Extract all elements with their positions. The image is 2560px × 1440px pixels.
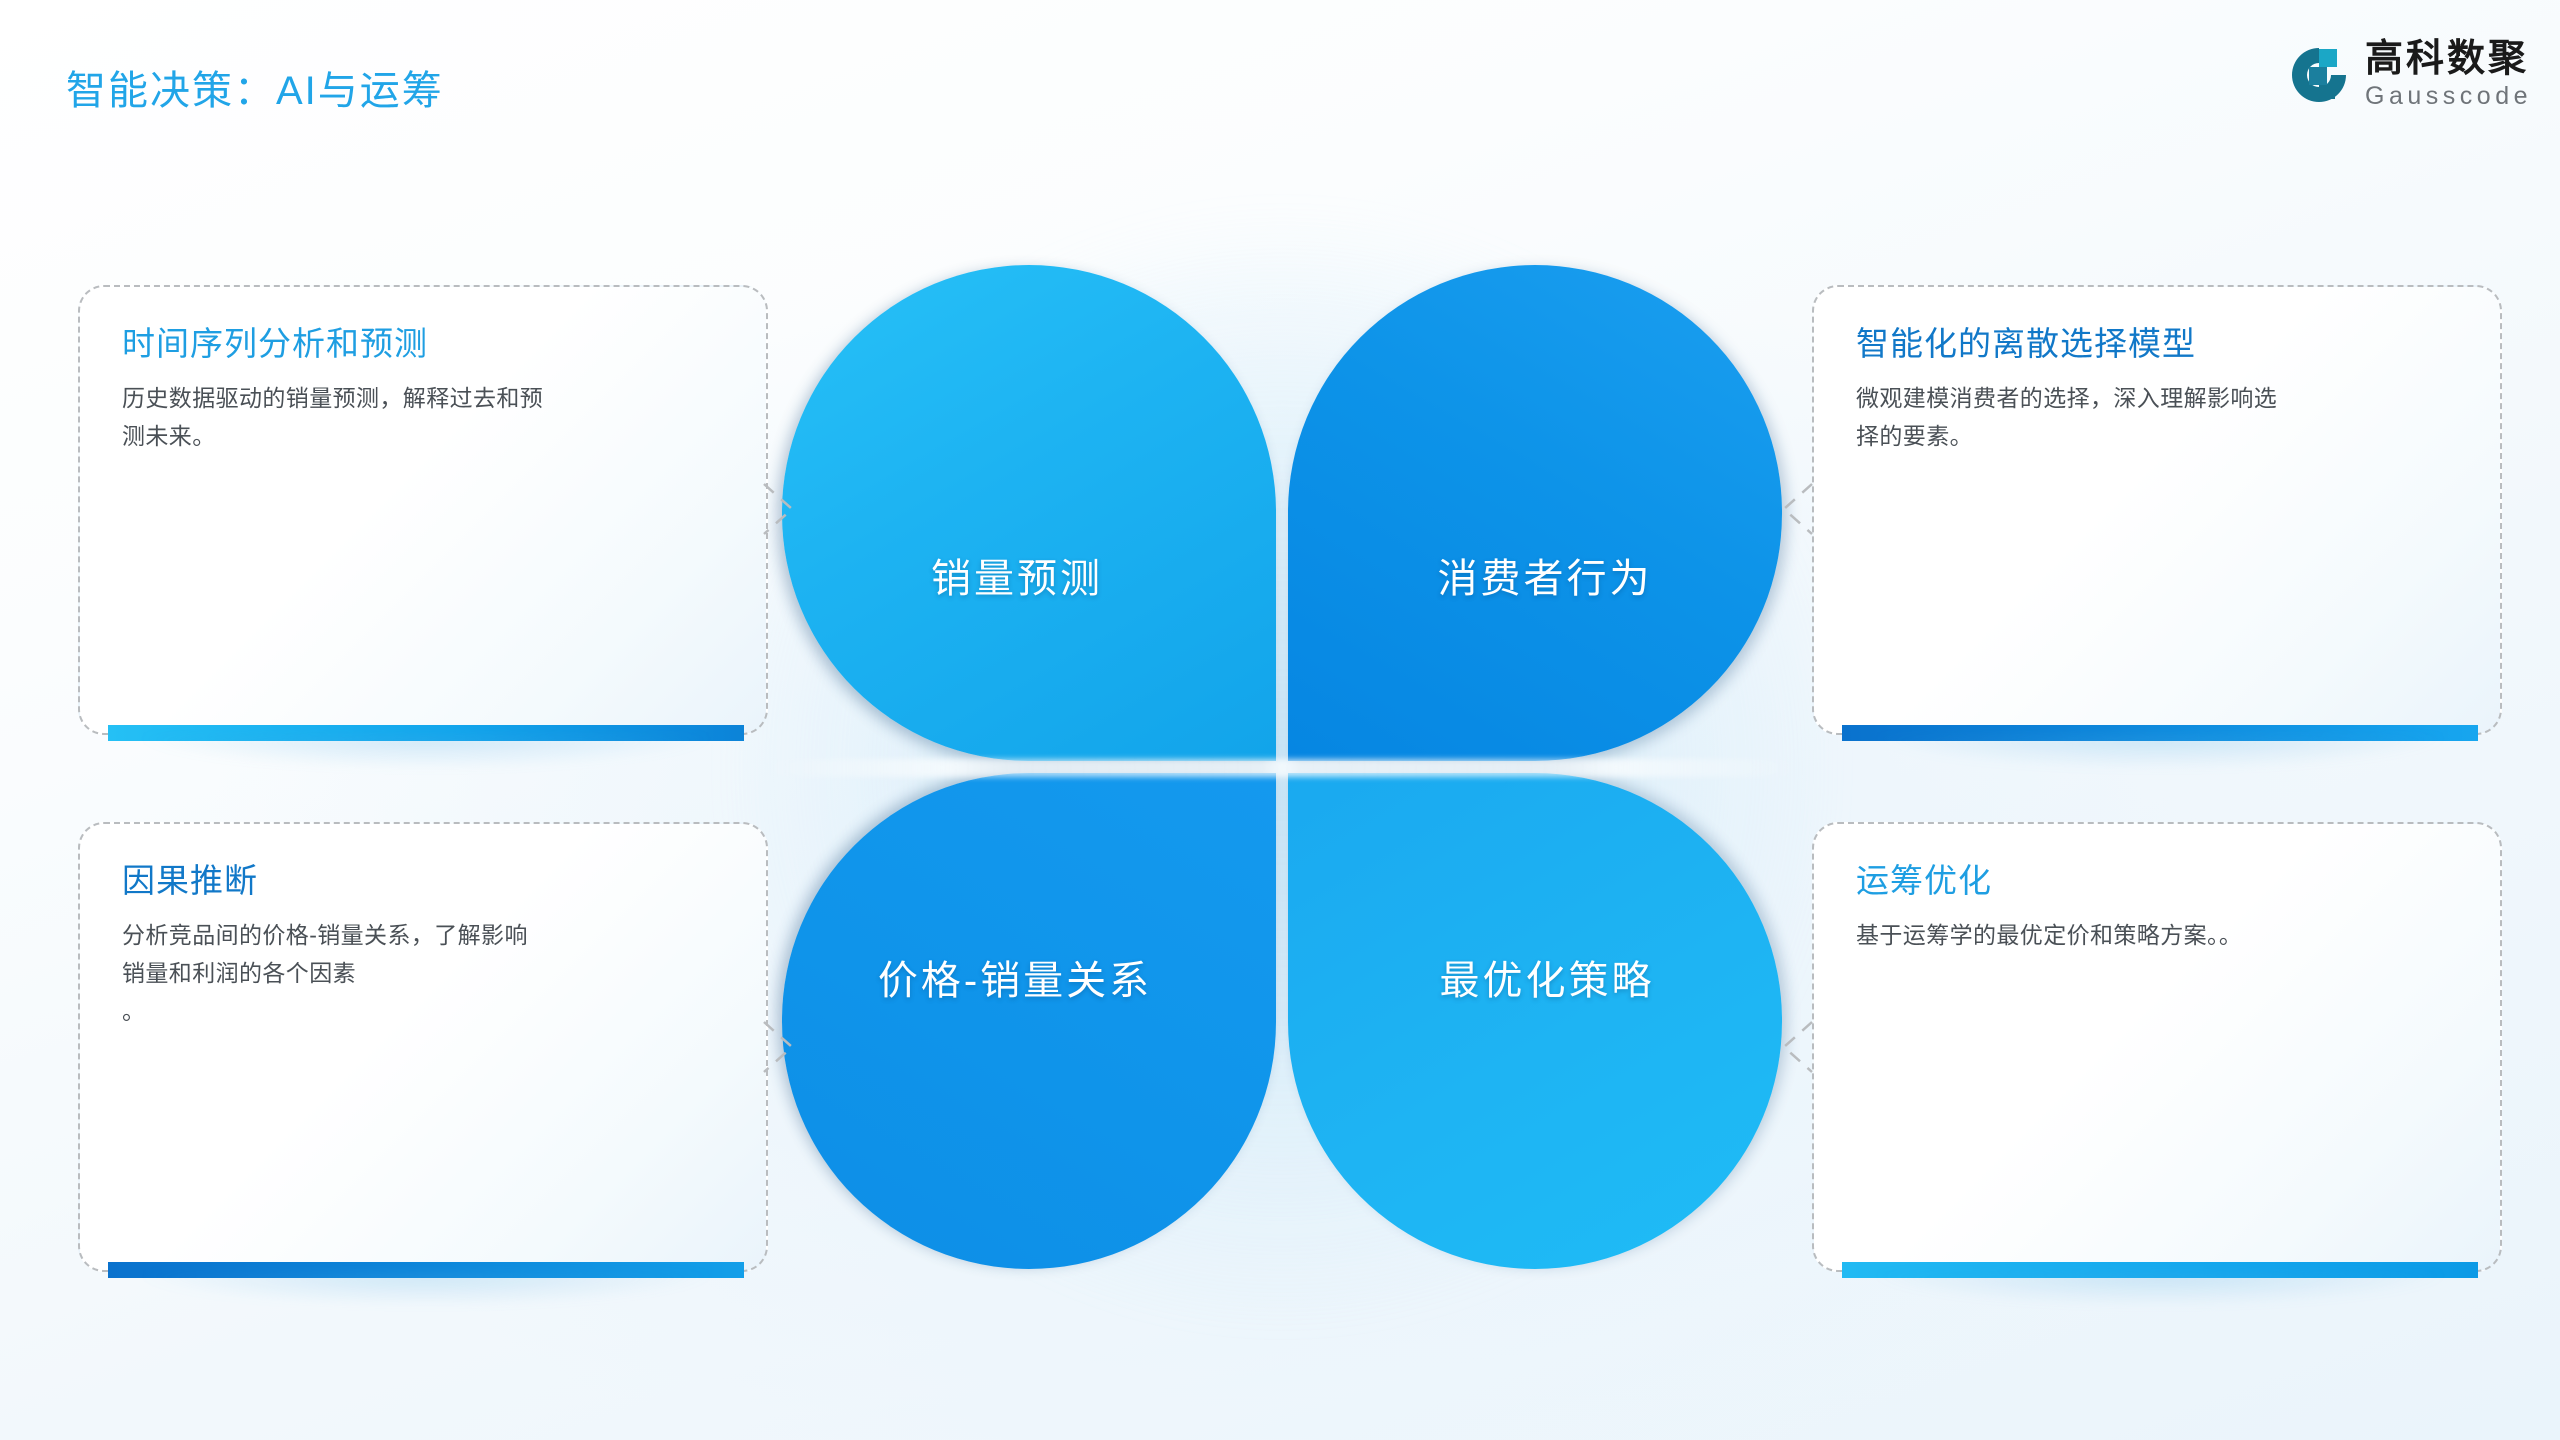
card-title: 运筹优化 bbox=[1856, 860, 2462, 901]
card-time-series[interactable]: 时间序列分析和预测 历史数据驱动的销量预测，解释过去和预 测未来。 bbox=[78, 285, 768, 735]
petal-label: 消费者行为 bbox=[1438, 546, 1653, 604]
card-accent-glow bbox=[1874, 735, 2446, 769]
petal-consumer-behavior[interactable]: 消费者行为 bbox=[1288, 265, 1782, 761]
connector-dashed-chevron-icon bbox=[762, 1016, 808, 1078]
card-content: 运筹优化 基于运筹学的最优定价和策略方案。。 bbox=[1856, 860, 2462, 955]
card-description: 分析竞品间的价格-销量关系，了解影响 销量和利润的各个因素 。 bbox=[122, 917, 728, 1031]
petal-label: 价格-销量关系 bbox=[878, 948, 1152, 1006]
petal-seam-highlight bbox=[760, 759, 1804, 777]
brand-name-en: Gausscode bbox=[2365, 84, 2532, 109]
card-operations-research[interactable]: 运筹优化 基于运筹学的最优定价和策略方案。。 bbox=[1812, 822, 2502, 1272]
card-discrete-choice[interactable]: 智能化的离散选择模型 微观建模消费者的选择，深入理解影响选 择的要素。 bbox=[1812, 285, 2502, 735]
card-description: 历史数据驱动的销量预测，解释过去和预 测未来。 bbox=[122, 380, 728, 456]
card-content: 时间序列分析和预测 历史数据驱动的销量预测，解释过去和预 测未来。 bbox=[122, 323, 728, 456]
connector-dashed-chevron-icon bbox=[762, 478, 808, 540]
petal-label: 销量预测 bbox=[931, 546, 1103, 604]
connector-dashed-chevron-icon bbox=[1768, 478, 1814, 540]
card-title: 时间序列分析和预测 bbox=[122, 323, 728, 364]
petal-optimal-strategy[interactable]: 最优化策略 bbox=[1288, 773, 1782, 1269]
page-title: 智能决策：AI与运筹 bbox=[66, 58, 444, 116]
flower-diagram: 销量预测 消费者行为 价格-销量关系 最优化策略 bbox=[782, 265, 1782, 1269]
card-description: 微观建模消费者的选择，深入理解影响选 择的要素。 bbox=[1856, 380, 2462, 456]
petal-sales-forecast[interactable]: 销量预测 bbox=[782, 265, 1276, 761]
card-accent-glow bbox=[140, 735, 712, 769]
card-accent-glow bbox=[140, 1272, 712, 1306]
card-title: 因果推断 bbox=[122, 860, 728, 901]
brand-text: 高科数聚 Gausscode bbox=[2365, 40, 2532, 109]
slide-canvas: 智能决策：AI与运筹 高科数聚 Gausscode 销量预测 消费者行为 价格-… bbox=[0, 0, 2560, 1440]
card-description: 基于运筹学的最优定价和策略方案。。 bbox=[1856, 917, 2462, 955]
card-title: 智能化的离散选择模型 bbox=[1856, 323, 2462, 364]
petal-label: 最优化策略 bbox=[1440, 948, 1655, 1006]
card-causal-inference[interactable]: 因果推断 分析竞品间的价格-销量关系，了解影响 销量和利润的各个因素 。 bbox=[78, 822, 768, 1272]
brand-name-cn: 高科数聚 bbox=[2365, 40, 2529, 78]
connector-dashed-chevron-icon bbox=[1768, 1016, 1814, 1078]
card-content: 因果推断 分析竞品间的价格-销量关系，了解影响 销量和利润的各个因素 。 bbox=[122, 860, 728, 1031]
petal-price-volume[interactable]: 价格-销量关系 bbox=[782, 773, 1276, 1269]
card-accent-glow bbox=[1874, 1272, 2446, 1306]
brand-logo: 高科数聚 Gausscode bbox=[2289, 40, 2532, 109]
gausscode-logo-mark-icon bbox=[2289, 45, 2349, 105]
card-content: 智能化的离散选择模型 微观建模消费者的选择，深入理解影响选 择的要素。 bbox=[1856, 323, 2462, 456]
